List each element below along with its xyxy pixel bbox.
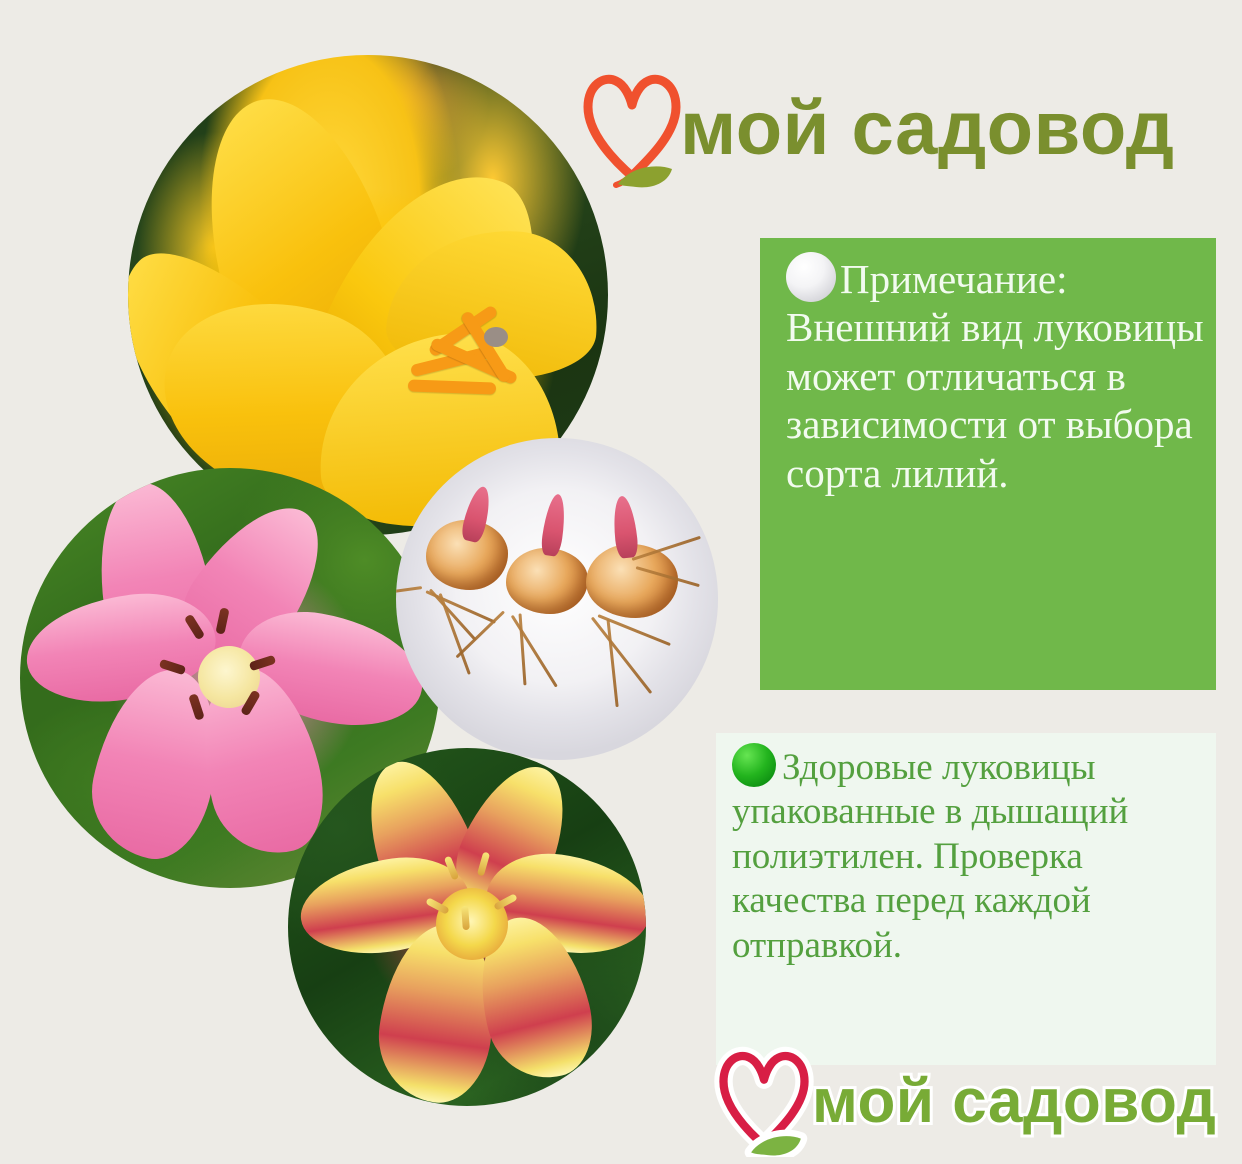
note-box: Примечание: Внешний вид луковицы может о… — [760, 238, 1216, 690]
logo-mark-top — [578, 63, 686, 194]
logo-mark-bottom — [712, 1041, 816, 1162]
pistil — [484, 327, 508, 347]
brand-wordmark-top: мой садовод — [680, 85, 1175, 172]
root — [519, 613, 527, 685]
grey-circle-bullet-icon — [786, 252, 836, 302]
note-box-text: Примечание: Внешний вид луковицы может о… — [760, 238, 1216, 497]
bulb-sprout — [540, 493, 568, 557]
note-box-content: Примечание: Внешний вид луковицы может о… — [786, 256, 1204, 496]
brand-wordmark-bottom: мой садовод — [812, 1066, 1216, 1137]
green-circle-bullet-icon — [732, 743, 776, 787]
root — [607, 619, 619, 707]
root — [511, 615, 558, 688]
brand-logo-bottom: мой садовод — [712, 1042, 1224, 1160]
bulb — [506, 548, 588, 614]
heart-icon — [588, 79, 676, 176]
product-info-card: мой садовод Примечание: Внешний вид луко… — [0, 0, 1242, 1164]
root — [396, 586, 422, 597]
brand-logo-top: мой садовод — [578, 58, 1218, 198]
root — [591, 617, 652, 694]
flower-center — [436, 888, 508, 960]
quality-box-text: Здоровые луковицы упакованные в дышащий … — [716, 733, 1216, 968]
photo-bicolor-lily — [288, 748, 646, 1106]
photo-lily-bulbs — [396, 438, 718, 760]
quality-box-content: Здоровые луковицы упакованные в дышащий … — [732, 747, 1128, 966]
quality-box: Здоровые луковицы упакованные в дышащий … — [716, 733, 1216, 1065]
